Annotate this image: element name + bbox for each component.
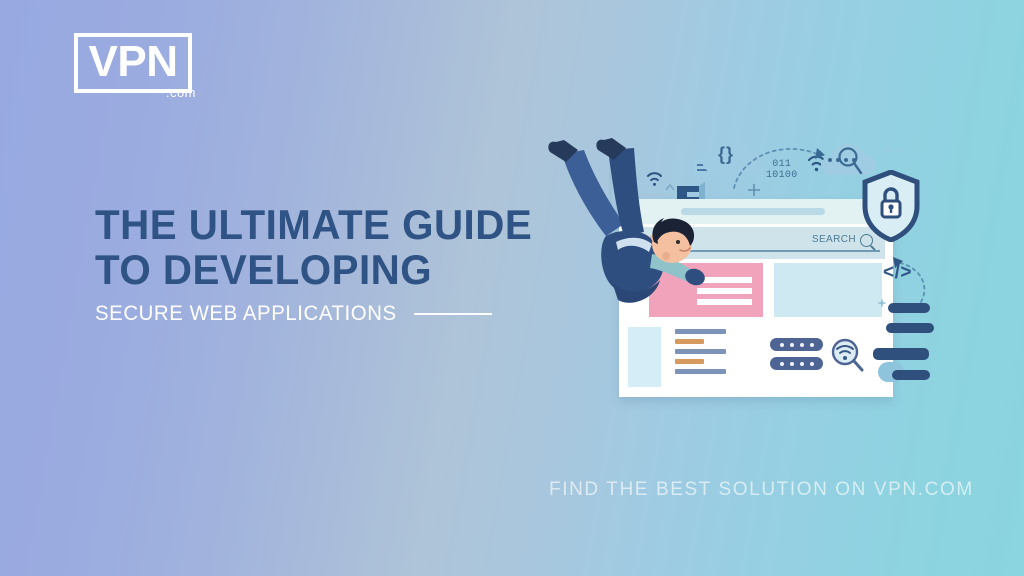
sidebar-panel <box>628 327 661 387</box>
decor-bar <box>873 348 929 360</box>
binary-text: 011 10100 <box>766 160 798 181</box>
hero-text-block: THE ULTIMATE GUIDE TO DEVELOPING SECURE … <box>95 203 565 326</box>
binary-line-2: 10100 <box>766 171 798 182</box>
subtitle-rule <box>414 313 492 315</box>
wifi-magnifier-icon <box>831 337 865 373</box>
list-row-bar <box>675 369 726 374</box>
list-row-bar <box>675 359 704 364</box>
page-title-line-1: THE ULTIMATE GUIDE <box>95 203 546 248</box>
list-row-bar <box>675 349 726 354</box>
decor-bar <box>892 370 930 380</box>
cloud-braces-label: {} <box>718 144 734 165</box>
shield-lock-icon <box>861 170 921 242</box>
search-label: SEARCH <box>812 234 856 245</box>
web-security-illustration: 011 10100 {} SEARCH <box>520 120 980 420</box>
page-title-line-2: TO DEVELOPING <box>95 248 546 293</box>
falling-developer-figure <box>520 132 720 322</box>
vpn-logo-suffix: .com <box>164 85 198 100</box>
vpn-logo-text: VPN <box>78 40 188 84</box>
vpn-logo[interactable]: VPN .com <box>74 33 192 93</box>
binary-line-1: 011 <box>766 160 798 171</box>
server-rack-icon <box>770 357 823 370</box>
sparkle-icon <box>748 184 760 196</box>
list-row-bar <box>675 339 704 344</box>
subtitle-row: SECURE WEB APPLICATIONS <box>95 302 565 326</box>
server-rack-icon <box>770 338 823 351</box>
footer-tagline: FIND THE BEST SOLUTION ON VPN.COM <box>549 479 974 501</box>
page-subtitle: SECURE WEB APPLICATIONS <box>95 302 397 326</box>
decor-bar <box>888 303 930 313</box>
list-row-bar <box>675 329 726 334</box>
decor-bar <box>886 323 934 333</box>
hero-banner: VPN .com THE ULTIMATE GUIDE TO DEVELOPIN… <box>0 0 1024 576</box>
